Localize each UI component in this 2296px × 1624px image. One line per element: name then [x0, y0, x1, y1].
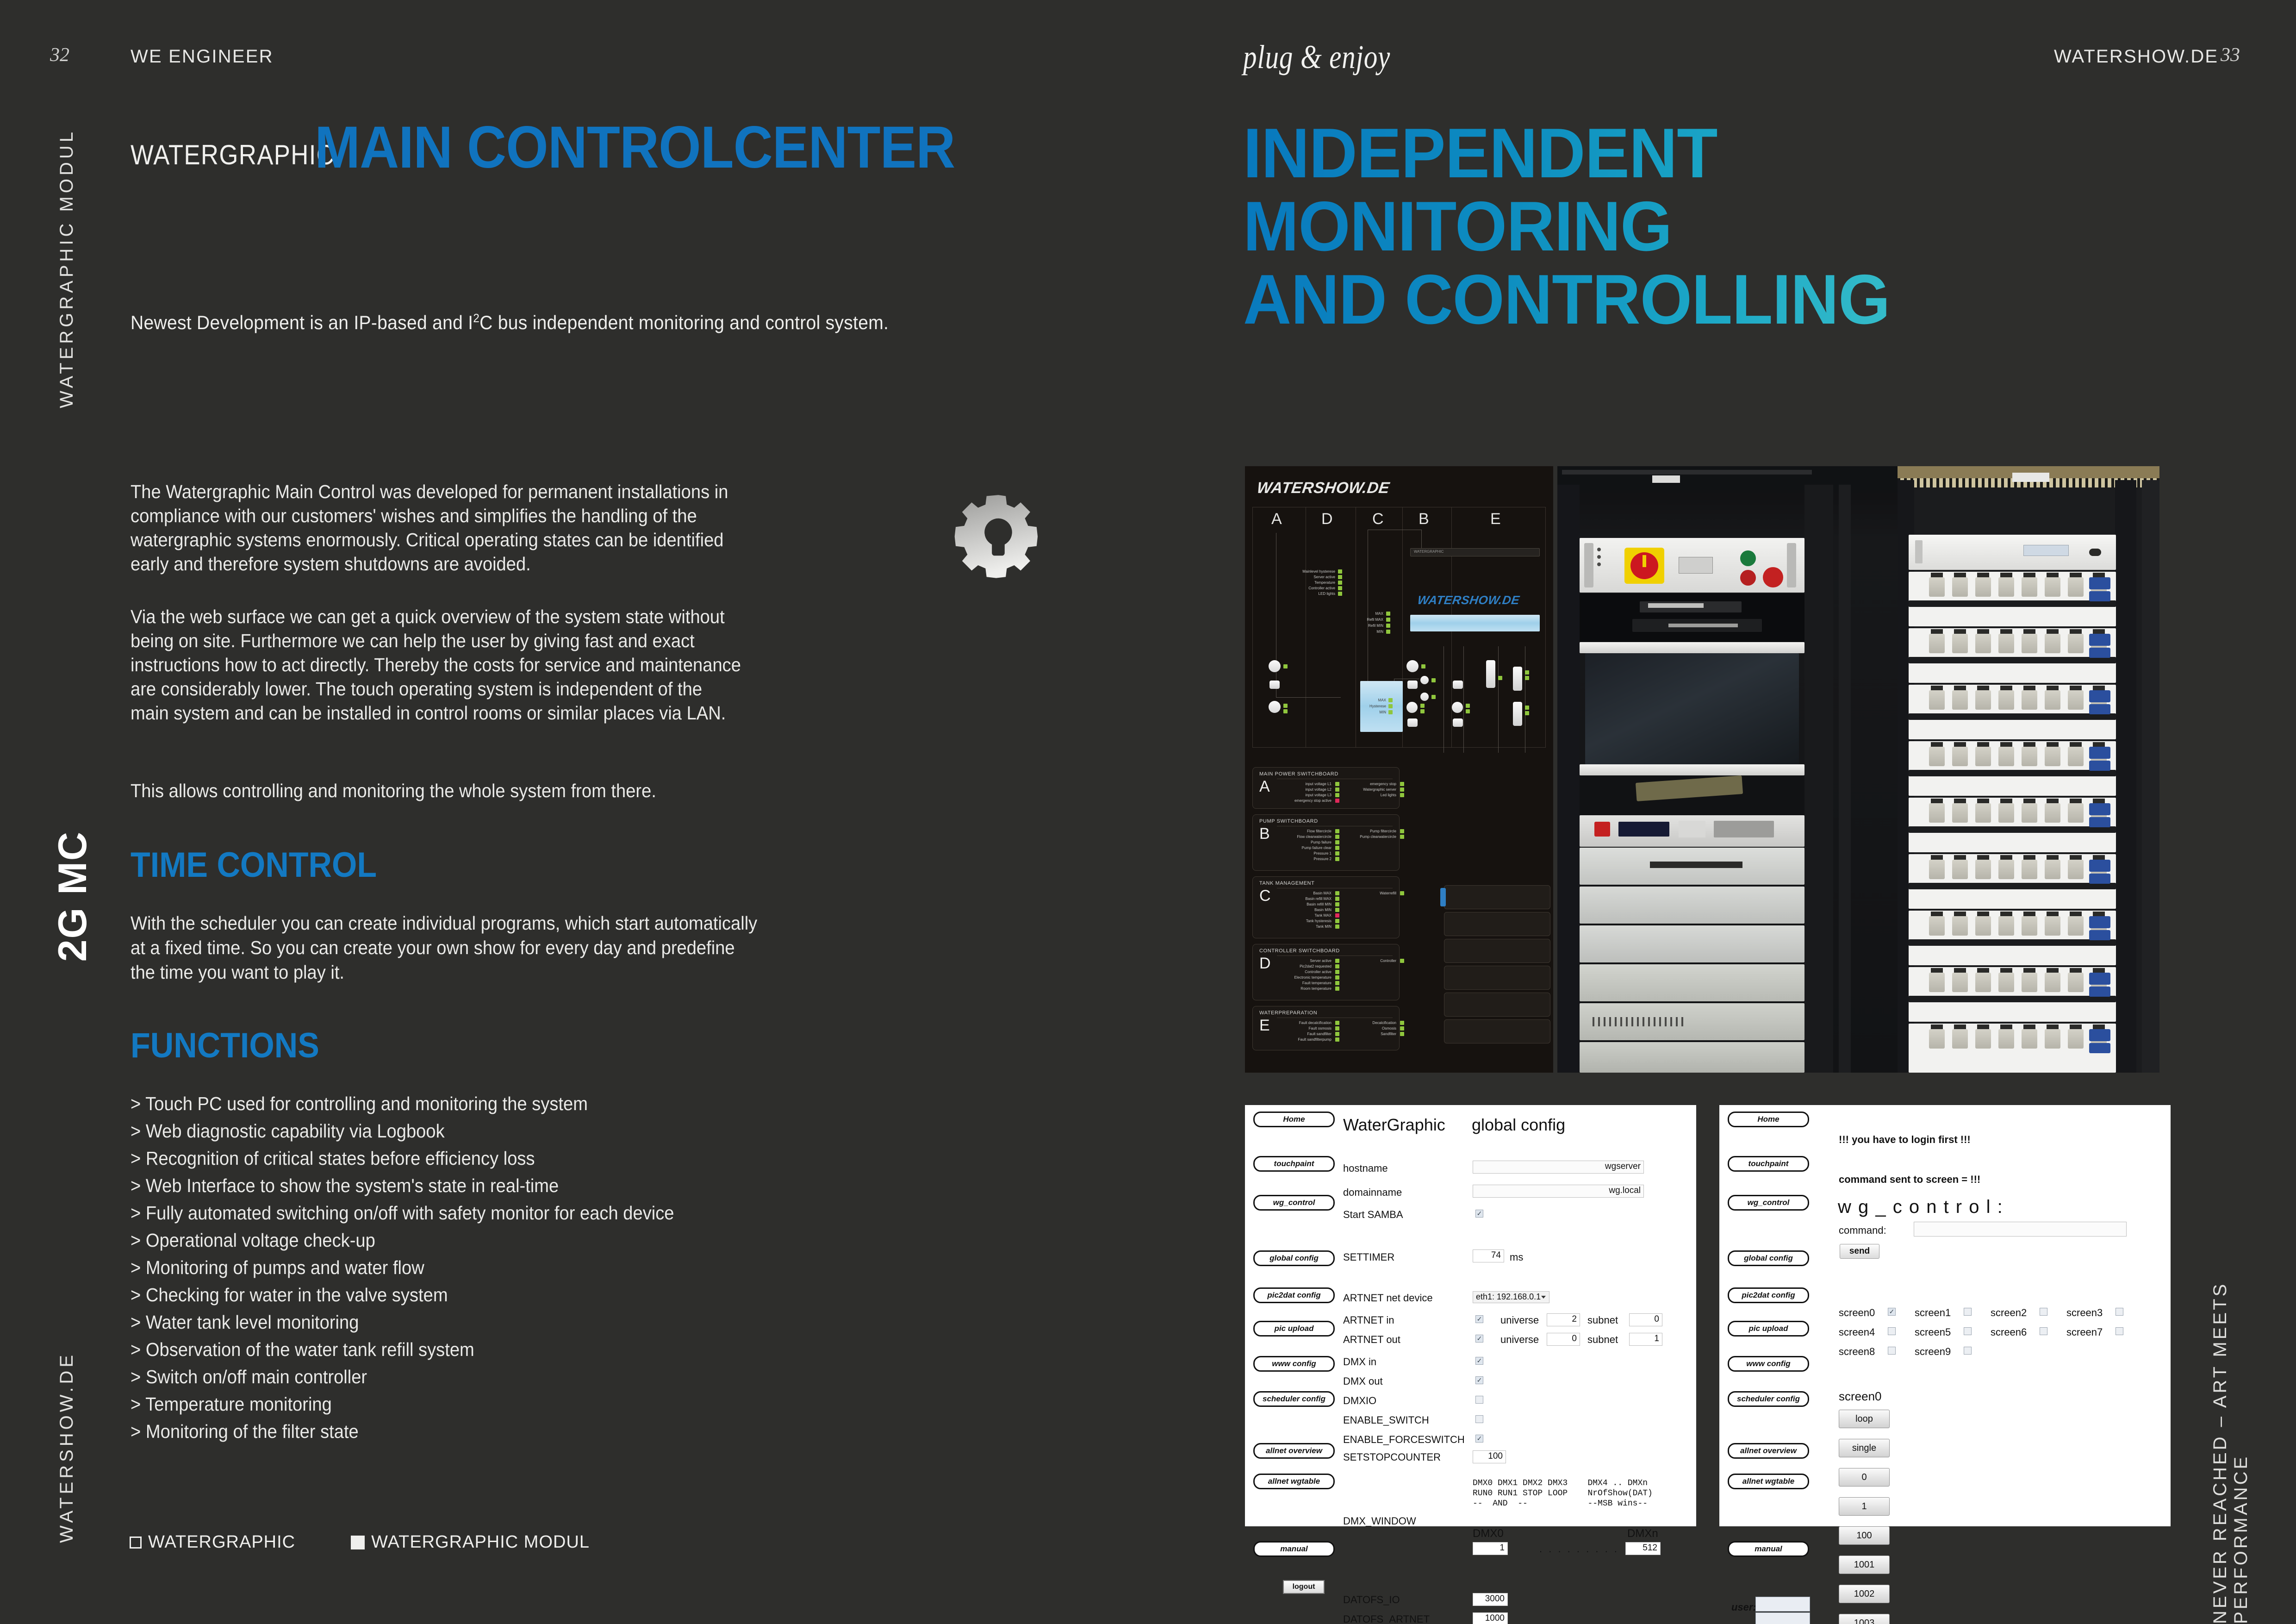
nav-global-config[interactable]: global config [1253, 1250, 1335, 1266]
input-dmxn[interactable]: 512 [1625, 1542, 1661, 1555]
control-button-loop[interactable]: loop [1839, 1410, 1890, 1428]
function-item: > Operational voltage check-up [131, 1227, 674, 1254]
gear-icon [945, 491, 1052, 597]
intro-superscript: 2 [473, 311, 479, 325]
folio-right: 33 [2221, 44, 2240, 66]
checkbox-screen6[interactable] [2040, 1327, 2047, 1335]
scada-group-e: WATERPREPARATION E Fault decalcification… [1252, 1006, 1400, 1050]
scada-column-b: B [1419, 510, 1429, 528]
open-square-icon [130, 1537, 142, 1549]
scada-diagram-tag: WATERGRAPHIC [1414, 550, 1444, 554]
script-tag-plug-and-enjoy: plug & enjoy [1243, 38, 1390, 76]
function-item: > Observation of the water tank refill s… [131, 1336, 674, 1363]
wg-control-heading: w g _ c o n t r o l : [1838, 1197, 2004, 1218]
checkbox-screen1[interactable] [1964, 1308, 1972, 1316]
function-item: > Switch on/off main controller [131, 1363, 674, 1391]
checkbox-screen9[interactable] [1964, 1347, 1972, 1355]
page-title: MAIN CONTROLCENTER [315, 118, 955, 177]
nav-scheduler-config[interactable]: scheduler config [1253, 1391, 1335, 1407]
function-item: > Water tank level monitoring [131, 1309, 674, 1336]
function-item: > Recognition of critical states before … [131, 1145, 674, 1172]
checkbox-dmxio[interactable] [1475, 1396, 1483, 1404]
checkbox-screen5[interactable] [1964, 1327, 1972, 1335]
input-artnet-out-universe[interactable]: 0 [1547, 1333, 1580, 1346]
scada-logo: WATERSHOW.DE [1256, 479, 1391, 497]
scada-group-a: MAIN POWER SWITCHBOARD A input voltage L… [1252, 767, 1400, 809]
checkbox-screen0[interactable]: ✓ [1888, 1308, 1896, 1316]
body-paragraph-1: The Watergraphic Main Control was develo… [131, 480, 742, 576]
send-button[interactable]: send [1840, 1244, 1879, 1259]
label-screen7: screen7 [2066, 1326, 2103, 1338]
checkbox-screen8[interactable] [1888, 1347, 1896, 1355]
label-dmx0: DMX0 [1473, 1527, 1504, 1540]
label-artnet-in-subnet: subnet [1587, 1314, 1618, 1326]
nav-www-config[interactable]: www config [1728, 1356, 1809, 1372]
nav-allnet-wgtable[interactable]: allnet wgtable [1728, 1474, 1809, 1489]
input-command[interactable] [1914, 1222, 2127, 1237]
legend-item-watergraphic: WATERGRAPHIC [130, 1532, 295, 1552]
chevron-down-icon[interactable] [1541, 1296, 1546, 1299]
legend: WATERGRAPHIC WATERGRAPHIC MODUL [130, 1532, 590, 1552]
label-user: user: [1731, 1601, 1756, 1613]
nav-touchpaint[interactable]: touchpaint [1253, 1156, 1335, 1172]
label-settimer-unit: ms [1510, 1251, 1523, 1263]
control-button-1001[interactable]: 1001 [1839, 1555, 1890, 1574]
label-screen9: screen9 [1915, 1346, 1951, 1358]
input-datofs_io[interactable]: 3000 [1473, 1593, 1508, 1606]
label-artnet-out: ARTNET out [1343, 1334, 1400, 1346]
nav-manual[interactable]: manual [1253, 1541, 1335, 1557]
nav-home[interactable]: Home [1253, 1112, 1335, 1127]
dmx-legend: DMX0 DMX1 DMX2 DMX3 DMX4 .. DMXn RUN0 RU… [1473, 1478, 1653, 1509]
checkbox-dmx out[interactable]: ✓ [1475, 1376, 1483, 1384]
input-artnet-in-subnet[interactable]: 0 [1629, 1313, 1662, 1326]
label-artnet-out-universe: universe [1500, 1334, 1539, 1346]
intro-post: C bus independent monitoring and control… [479, 312, 889, 333]
global-config-screenshot: Hometouchpaintwg_controlglobal configpic… [1245, 1105, 1696, 1526]
functions-list: > Touch PC used for controlling and moni… [131, 1090, 674, 1445]
command-sent-status: command sent to screen = !!! [1839, 1174, 1980, 1186]
legend-label-watergraphic: WATERGRAPHIC [148, 1532, 295, 1552]
nav-touchpaint[interactable]: touchpaint [1728, 1156, 1809, 1172]
label-start-samba: Start SAMBA [1343, 1209, 1403, 1221]
label-settimer: SETTIMER [1343, 1251, 1394, 1263]
section-heading-time-control: TIME CONTROL [131, 845, 377, 885]
ui-title-watergraphic: WaterGraphic [1343, 1115, 1445, 1135]
input-dmx0[interactable]: 1 [1473, 1542, 1508, 1555]
nav-pic2dat-config[interactable]: pic2dat config [1253, 1287, 1335, 1303]
checkbox-screen2[interactable] [2040, 1308, 2047, 1316]
side-tag-2gmc: 2G MC [50, 831, 96, 962]
checkbox-screen3[interactable] [2116, 1308, 2123, 1316]
label-artnet-in-universe: universe [1500, 1314, 1539, 1326]
function-item: > Monitoring of pumps and water flow [131, 1254, 674, 1281]
label-enable_forceswitch: ENABLE_FORCESWITCH [1343, 1434, 1465, 1446]
label-dmxio: DMXIO [1343, 1395, 1376, 1407]
nav-allnet-overview[interactable]: allnet overview [1728, 1443, 1809, 1459]
side-label-watergraphic-modul: WATERGRAPHIC MODUL [56, 129, 77, 408]
scada-group-c: TANK MANAGEMENT C Basin MAXWaterrefill B… [1252, 876, 1400, 938]
input-hostname[interactable]: wgserver [1473, 1161, 1644, 1174]
hero-headline: INDEPENDENT MONITORING AND CONTROLLING [1243, 117, 1890, 336]
input-artnet-in-universe[interactable]: 2 [1547, 1313, 1580, 1326]
label-dmx out: DMX out [1343, 1375, 1383, 1387]
select-artnet-device[interactable]: eth1: 192.168.0.1 [1473, 1291, 1549, 1303]
wg-control-screenshot: Hometouchpaintwg_controlglobal configpic… [1719, 1105, 2171, 1526]
label-hostname: hostname [1343, 1162, 1388, 1174]
label-dmxn: DMXn [1627, 1527, 1658, 1540]
scada-column-e: E [1490, 510, 1501, 528]
label-screen0: screen0 [1839, 1307, 1875, 1319]
active-screen-label: screen0 [1839, 1389, 1882, 1404]
section-heading-functions: FUNCTIONS [131, 1025, 319, 1066]
basin-water-bar [1410, 615, 1540, 631]
nav-pic-upload[interactable]: pic upload [1728, 1321, 1809, 1337]
nav-manual[interactable]: manual [1728, 1541, 1809, 1557]
control-button-1003[interactable]: 1003 [1839, 1614, 1890, 1624]
label-artnet-device: ARTNET net device [1343, 1292, 1433, 1304]
nav-allnet-wgtable[interactable]: allnet wgtable [1253, 1474, 1335, 1489]
control-button-1[interactable]: 1 [1839, 1497, 1890, 1516]
control-button-100[interactable]: 100 [1839, 1526, 1890, 1545]
time-control-body: With the scheduler you can create indivi… [131, 911, 759, 985]
input-password[interactable] [1755, 1612, 1810, 1624]
function-item: > Monitoring of the filter state [131, 1418, 674, 1445]
hero-line-2: MONITORING [1243, 190, 1890, 263]
folio-left: 32 [50, 44, 69, 66]
nav-home[interactable]: Home [1728, 1112, 1809, 1127]
label-datofs_artnet: DATOFS_ARTNET [1343, 1613, 1430, 1624]
ui-title-global-config: global config [1472, 1115, 1565, 1135]
logout-button[interactable]: logout [1283, 1580, 1325, 1594]
label-domainname: domainname [1343, 1187, 1402, 1199]
function-item: > Web Interface to show the system's sta… [131, 1172, 674, 1199]
label-command: command: [1839, 1224, 1886, 1237]
scada-group-d: CONTROLLER SWITCHBOARD D Server activeCo… [1252, 944, 1400, 1000]
hero-line-3: AND CONTROLLING [1243, 263, 1890, 336]
label-enable_switch: ENABLE_SWITCH [1343, 1414, 1429, 1426]
page-kicker: WATERGRAPHIC [131, 139, 335, 171]
input-datofs_artnet[interactable]: 1000 [1473, 1612, 1508, 1624]
server-rack-photo [1557, 466, 1898, 1073]
label-screen8: screen8 [1839, 1346, 1875, 1358]
nav-wg-control[interactable]: wg_control [1728, 1195, 1809, 1211]
function-item: > Fully automated switching on/off with … [131, 1199, 674, 1227]
side-label-never-reached: NEVER REACHED – ART MEETS PERFORMANCE [2210, 1119, 2252, 1624]
label-artnet-out-subnet: subnet [1587, 1334, 1618, 1346]
label-dmx in: DMX in [1343, 1356, 1376, 1368]
control-button-0[interactable]: 0 [1839, 1468, 1890, 1487]
input-domainname[interactable]: wg.local [1473, 1185, 1644, 1198]
legend-item-watergraphic-modul: WATERGRAPHIC MODUL [351, 1532, 590, 1552]
function-item: > Temperature monitoring [131, 1391, 674, 1418]
dmx-window-dots: . . . . . . . . . [1539, 1543, 1619, 1555]
label-screen2: screen2 [1991, 1307, 2027, 1319]
input-setstopcounter[interactable]: 100 [1473, 1450, 1506, 1463]
label-datofs_io: DATOFS_IO [1343, 1594, 1400, 1606]
label-screen5: screen5 [1915, 1326, 1951, 1338]
scada-overview-screenshot: WATERSHOW.DE A D C B E WATERGRA [1245, 466, 1553, 1073]
label-screen1: screen1 [1915, 1307, 1951, 1319]
nav-wg-control[interactable]: wg_control [1253, 1195, 1335, 1211]
checkbox-artnet-in[interactable]: ✓ [1475, 1315, 1483, 1323]
checkbox-dmx in[interactable]: ✓ [1475, 1357, 1483, 1365]
label-screen3: screen3 [2066, 1307, 2103, 1319]
checkbox-enable_switch[interactable] [1475, 1415, 1483, 1423]
label-artnet-in: ARTNET in [1343, 1314, 1394, 1326]
input-user[interactable] [1755, 1597, 1810, 1612]
nav-scheduler-config[interactable]: scheduler config [1728, 1391, 1809, 1407]
patch-panel-rack-photo [1898, 466, 2159, 1073]
label-dmx-window: DMX_WINDOW [1343, 1515, 1416, 1527]
hero-line-1: INDEPENDENT [1243, 117, 1890, 190]
running-head-right: WATERSHOW.DE [2054, 46, 2218, 67]
scada-diagram-logo: WATERSHOW.DE [1417, 593, 1521, 607]
nav-allnet-overview[interactable]: allnet overview [1253, 1443, 1335, 1459]
label-screen4: screen4 [1839, 1326, 1875, 1338]
body-paragraph-2: Via the web surface we can get a quick o… [131, 605, 742, 725]
magazine-spread: 32 WE ENGINEER WATERGRAPHIC MODUL WATERS… [0, 0, 2296, 1624]
intro-line: Newest Development is an IP-based and I2… [131, 311, 889, 334]
function-item: > Checking for water in the valve system [131, 1281, 674, 1309]
function-item: > Web diagnostic capability via Logbook [131, 1118, 674, 1145]
checkbox-screen7[interactable] [2116, 1327, 2123, 1335]
nav-pic2dat-config[interactable]: pic2dat config [1728, 1287, 1809, 1303]
side-label-watershow-de: WATERSHOW.DE [56, 1352, 77, 1543]
nav-pic-upload[interactable]: pic upload [1253, 1321, 1335, 1337]
scada-column-a: A [1271, 510, 1282, 528]
label-screen6: screen6 [1991, 1326, 2027, 1338]
login-warning: !!! you have to login first !!! [1839, 1134, 1971, 1146]
legend-label-watergraphic-modul: WATERGRAPHIC MODUL [371, 1532, 590, 1552]
checkbox-start-samba[interactable]: ✓ [1475, 1210, 1483, 1218]
input-settimer[interactable]: 74 [1473, 1249, 1504, 1262]
checkbox-artnet-out[interactable]: ✓ [1475, 1335, 1483, 1343]
scada-column-d: D [1321, 510, 1333, 528]
body-paragraph-3: This allows controlling and monitoring t… [131, 779, 742, 803]
control-button-single[interactable]: single [1839, 1439, 1890, 1457]
nav-global-config[interactable]: global config [1728, 1250, 1809, 1266]
nav-www-config[interactable]: www config [1253, 1356, 1335, 1372]
scada-group-b: PUMP SWITCHBOARD B Flow filtercirclePump… [1252, 814, 1400, 871]
function-item: > Touch PC used for controlling and moni… [131, 1090, 674, 1118]
intro-pre: Newest Development is an IP-based and I [131, 312, 473, 333]
label-setstopcounter: SETSTOPCOUNTER [1343, 1451, 1441, 1463]
scada-diagram: A D C B E WATERGRAPHIC WATERSHOW.DE [1252, 507, 1546, 748]
checkbox-enable_forceswitch[interactable]: ✓ [1475, 1435, 1483, 1443]
scada-column-c: C [1372, 510, 1384, 528]
filled-square-icon [351, 1536, 365, 1549]
input-artnet-out-subnet[interactable]: 1 [1629, 1333, 1662, 1346]
control-button-1002[interactable]: 1002 [1839, 1585, 1890, 1603]
checkbox-screen4[interactable] [1888, 1327, 1896, 1335]
running-head-left: WE ENGINEER [131, 46, 274, 67]
